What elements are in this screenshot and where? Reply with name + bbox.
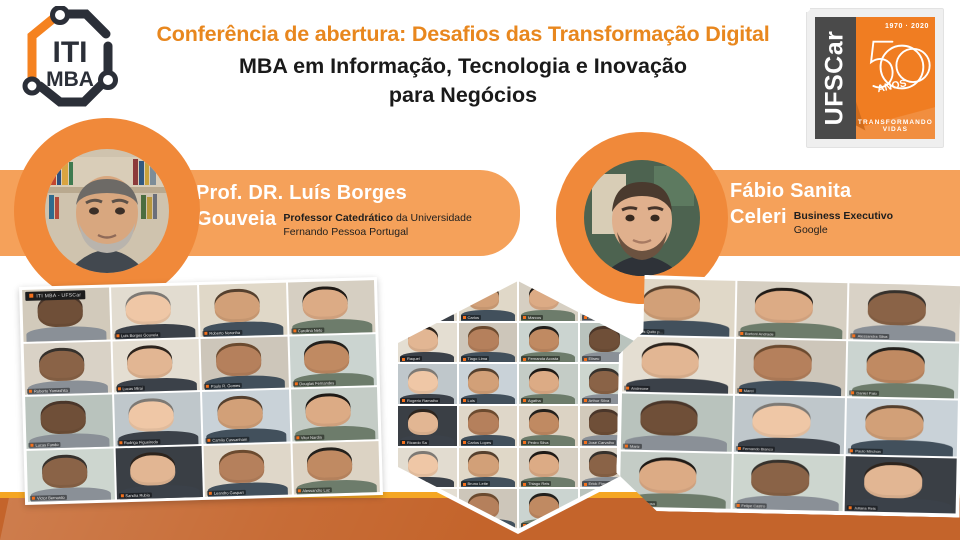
participant-name-label: Luis bbox=[461, 398, 477, 403]
participant-name-label: Marcos Quito p... bbox=[625, 328, 665, 334]
participant-name-label: Rogerio Ramalho bbox=[400, 398, 440, 403]
zoom-participant-tile[interactable]: Paulo Mirchon bbox=[846, 398, 958, 456]
participant-name-label: Alessandro Luz bbox=[295, 487, 332, 493]
program-title-line1: MBA em Informação, Tecnologia e Inovação bbox=[118, 51, 808, 82]
zoom-grid-left[interactable]: ITI MBA - UFSCar Luís Borges GouveiaRobe… bbox=[19, 277, 383, 505]
participant-name-label: Felipe Castro bbox=[734, 503, 767, 509]
speaker-role-left: Professor Catedrático da Universidade Fe… bbox=[283, 212, 472, 239]
zoom-participant-tile[interactable]: Paulo R. Gomes bbox=[201, 336, 289, 390]
participant-body bbox=[27, 326, 107, 342]
participant-head bbox=[641, 345, 699, 378]
stamp-anniversary-panel: 1970 · 2020 ANOS TRANSFORMANDO VIDAS bbox=[856, 17, 935, 139]
zoom-participant-tile[interactable]: Leandro Gaspari bbox=[204, 443, 292, 497]
zoom-participant-tile[interactable]: Douglas Fernandes bbox=[289, 334, 377, 388]
participant-head bbox=[865, 407, 923, 440]
participant-name-label: Victor Bernardo bbox=[30, 495, 67, 501]
zoom-participant-tile[interactable]: Daniel Palo bbox=[847, 341, 959, 399]
participant-name-label: Arthur Silva bbox=[582, 398, 612, 403]
zoom-grid-right[interactable]: Marcos Quito p...Bortoni AndradeAlessand… bbox=[616, 274, 960, 517]
participant-head bbox=[130, 454, 176, 485]
zoom-participant-tile[interactable]: Luis bbox=[459, 364, 518, 404]
presentation-slide: ITI MBA Conferência de abertura: Desafio… bbox=[0, 0, 960, 540]
zoom-participant-tile[interactable]: Vitor Nardin bbox=[290, 387, 378, 441]
participant-head bbox=[40, 403, 86, 434]
zoom-meeting-label: ITI MBA - UFSCar bbox=[25, 290, 85, 301]
stamp-institution-label: UFSCar bbox=[821, 31, 850, 126]
participant-name-label: Vitor Nardin bbox=[294, 434, 324, 440]
zoom-participant-tile[interactable]: Juliana Reis bbox=[845, 456, 957, 514]
participant-head bbox=[39, 350, 85, 381]
participant-name-label: Marcí bbox=[737, 388, 756, 393]
participant-head bbox=[755, 290, 813, 323]
zoom-participant-grid-left: Luís Borges GouveiaRoberto NoronhaCaroli… bbox=[22, 280, 380, 502]
participant-head bbox=[42, 457, 88, 488]
participant-name-label: Leandro Gaspari bbox=[207, 490, 246, 496]
program-title-line2: para Negócios bbox=[118, 82, 808, 110]
speaker-role-left-line2: Fernando Pessoa Portugal bbox=[283, 226, 408, 238]
zoom-participant-tile[interactable]: Luís Borges Gouveia bbox=[111, 285, 199, 339]
participant-name-label: Sandra Rubia bbox=[118, 492, 152, 498]
zoom-participant-tile[interactable]: Larissa Rosa bbox=[398, 281, 457, 321]
iti-mba-logo: ITI MBA bbox=[14, 6, 126, 110]
participant-head bbox=[529, 329, 559, 352]
participant-name-label: Larissa Rosa bbox=[400, 315, 432, 320]
zoom-participant-tile[interactable]: Carlos bbox=[459, 281, 518, 321]
participant-name-label: Carlos bbox=[461, 315, 482, 320]
speaker-name-right-line2: Celeri bbox=[730, 204, 787, 230]
participant-head bbox=[639, 460, 697, 493]
participant-head bbox=[754, 348, 812, 381]
ufscar-stamp-logo: UFSCar 1970 · 2020 ANOS TRANSFORMANDO VI… bbox=[806, 8, 944, 148]
participant-name-label: José Carvalho bbox=[582, 440, 617, 445]
speaker-name-left-line2: Gouveia bbox=[196, 206, 276, 232]
stamp-institution-panel: UFSCar bbox=[815, 17, 856, 139]
speaker-role-right-bold: Business Executivo bbox=[794, 210, 893, 222]
participant-head bbox=[126, 294, 172, 325]
participant-head bbox=[468, 412, 498, 435]
participant-name-label: Pedro Silva bbox=[521, 440, 550, 445]
zoom-participant-tile[interactable]: Alessandra Silva bbox=[849, 283, 960, 341]
participant-head bbox=[408, 412, 438, 435]
participant-name-label: Eliseu bbox=[582, 356, 602, 361]
participant-body bbox=[400, 477, 454, 487]
participant-name-label: Fernando Bianco bbox=[736, 445, 776, 451]
speaker-role-left-bold: Professor Catedrático bbox=[283, 212, 393, 224]
participant-head bbox=[128, 401, 174, 432]
zoom-participant-tile[interactable]: Agatha bbox=[519, 364, 578, 404]
participant-head bbox=[589, 329, 619, 352]
participant-name-label: Raquel bbox=[400, 356, 422, 361]
zoom-participant-tile[interactable]: Victor Bernardo bbox=[27, 448, 115, 502]
participant-name-label: Paulo R. Gomes bbox=[204, 383, 242, 389]
speaker-photo-right bbox=[584, 160, 700, 276]
participant-head bbox=[868, 292, 926, 325]
speaker-role-right: Business Executivo Google bbox=[794, 210, 893, 237]
zoom-participant-tile[interactable]: Sandra Rubia bbox=[115, 446, 203, 500]
stamp-fifty-graphic: ANOS bbox=[856, 25, 935, 109]
speaker-photo-left bbox=[45, 149, 169, 273]
zoom-participant-tile[interactable]: Marcos bbox=[519, 281, 578, 321]
participant-head bbox=[529, 412, 559, 435]
participant-head bbox=[642, 288, 700, 321]
participant-head bbox=[127, 348, 173, 379]
participant-name-label: Andreone bbox=[624, 386, 650, 392]
zoom-participant-tile[interactable]: Rodrigo Figueiredo bbox=[114, 392, 202, 446]
speaker-role-left-rest: da Universidade bbox=[393, 212, 472, 224]
stamp-anos-label: ANOS bbox=[876, 78, 907, 95]
participant-name-label: Paulo Mirchon bbox=[848, 448, 883, 454]
zoom-participant-tile[interactable]: Bortoni Andrade bbox=[736, 281, 848, 339]
participant-head bbox=[304, 343, 350, 374]
participant-head bbox=[753, 405, 811, 438]
participant-name-label: Bortoni Andrade bbox=[738, 330, 776, 336]
zoom-participant-tile[interactable]: Mariz bbox=[621, 393, 733, 451]
participant-head bbox=[468, 287, 498, 310]
participant-body bbox=[400, 310, 454, 320]
participant-name-label: Tiago Lima bbox=[461, 356, 490, 361]
logo-text-iti: ITI bbox=[53, 36, 88, 69]
zoom-participant-tile[interactable]: Carolina Neto bbox=[288, 280, 376, 334]
zoom-participant-tile[interactable]: Raquel bbox=[398, 323, 457, 363]
stamp-tagline: TRANSFORMANDO VIDAS bbox=[856, 119, 935, 133]
participant-head bbox=[529, 454, 559, 477]
participant-head bbox=[214, 292, 260, 323]
participant-name-label: Fernanda Acosta bbox=[521, 356, 560, 361]
participant-head bbox=[529, 287, 559, 310]
zoom-participant-tile[interactable]: Pedro Silva bbox=[519, 406, 578, 446]
participant-head bbox=[589, 412, 619, 435]
zoom-participant-tile[interactable]: Roberto Yamashita bbox=[24, 341, 112, 395]
zoom-participant-tile[interactable]: Carlos Lopes bbox=[459, 406, 518, 446]
zoom-participant-tile[interactable]: Rogerio Ramalho bbox=[398, 364, 457, 404]
participant-head bbox=[408, 329, 438, 352]
participant-name-label: Juliana M. bbox=[400, 481, 427, 486]
participant-head bbox=[218, 452, 264, 483]
participant-name-label: Juliana Reis bbox=[847, 505, 878, 511]
zoom-participant-tile[interactable]: Marcí bbox=[735, 338, 847, 396]
participant-head bbox=[302, 289, 348, 320]
participant-head bbox=[468, 371, 498, 394]
participant-name-label: Carlos Lopes bbox=[461, 440, 494, 445]
speaker-name-right-line1: Fábio Sanita bbox=[730, 178, 955, 204]
participant-head bbox=[408, 287, 438, 310]
participant-head bbox=[751, 463, 809, 496]
participant-name-label: Bruno Leite bbox=[461, 481, 490, 486]
participant-head bbox=[408, 454, 438, 477]
participant-head bbox=[408, 371, 438, 394]
participant-head bbox=[307, 450, 353, 481]
participant-head bbox=[217, 399, 263, 430]
zoom-participant-tile[interactable]: Thiago Reis bbox=[519, 448, 578, 488]
zoom-participant-tile[interactable]: Alessandro Luz bbox=[292, 441, 380, 495]
participant-head bbox=[529, 371, 559, 394]
participant-name-label: Lucas Mirai bbox=[115, 386, 145, 392]
zoom-participant-tile[interactable]: Fernanda Acosta bbox=[519, 323, 578, 363]
participant-name-label: Thiago Reis bbox=[521, 481, 551, 486]
participant-head bbox=[640, 403, 698, 436]
zoom-participant-tile[interactable]: Tiago Lima bbox=[459, 323, 518, 363]
zoom-participant-tile[interactable]: Felipe Castro bbox=[732, 453, 844, 511]
speaker-info-left: Prof. DR. Luís Borges Gouveia Professor … bbox=[196, 180, 526, 240]
zoom-participant-tile[interactable]: Roberto Noronha bbox=[199, 283, 287, 337]
speaker-avatar-left bbox=[14, 118, 200, 304]
speaker-name-left-line1: Prof. DR. Luís Borges bbox=[196, 180, 526, 206]
participant-head bbox=[305, 396, 351, 427]
participant-head bbox=[589, 454, 619, 477]
participant-head bbox=[215, 345, 261, 376]
participant-name-label: Erick Figueiredo bbox=[582, 481, 620, 486]
zoom-participant-tile[interactable]: Camila Cassanham bbox=[202, 390, 290, 444]
participant-head bbox=[37, 297, 83, 328]
zoom-participant-tile[interactable]: Bruno Leite bbox=[459, 448, 518, 488]
participant-name-label: Lucas Fundo bbox=[28, 441, 60, 447]
participant-name-label: Alessandra Silva bbox=[851, 333, 890, 339]
participant-body bbox=[628, 320, 730, 337]
participant-name-label: Marcos bbox=[521, 315, 543, 320]
conference-title: Conferência de abertura: Desafios das Tr… bbox=[118, 22, 808, 47]
participant-name-label: Mariz bbox=[623, 443, 642, 448]
zoom-participant-tile[interactable]: Lucas Mirai bbox=[112, 339, 200, 393]
zoom-participant-tile[interactable]: Ricardo Sa bbox=[398, 406, 457, 446]
zoom-participant-tile[interactable]: Fernando Bianco bbox=[733, 396, 845, 454]
speaker-info-right: Fábio Sanita Celeri Business Executivo G… bbox=[730, 178, 955, 238]
participant-head bbox=[866, 350, 924, 383]
logo-text-mba: MBA bbox=[46, 68, 94, 91]
participant-head bbox=[468, 329, 498, 352]
zoom-participant-tile[interactable]: Lucas Fundo bbox=[25, 394, 113, 448]
zoom-participant-tile[interactable]: Juliana M. bbox=[398, 448, 457, 488]
participant-name-label: Daniel Palo bbox=[849, 390, 879, 396]
participant-name-label: Ana Paula bbox=[582, 315, 609, 320]
participant-head bbox=[864, 465, 922, 498]
participant-name-label: Agatha bbox=[521, 398, 543, 403]
zoom-participant-tile[interactable]: Andreone bbox=[622, 336, 734, 394]
participant-name-label: Ricardo Sa bbox=[400, 440, 429, 445]
participant-name-label: Carolina Neto bbox=[291, 327, 325, 333]
zoom-participant-grid-right: Marcos Quito p...Bortoni AndradeAlessand… bbox=[620, 279, 960, 514]
participant-head bbox=[468, 454, 498, 477]
title-block: Conferência de abertura: Desafios das Tr… bbox=[118, 22, 808, 110]
speaker-role-right-line2: Google bbox=[794, 224, 828, 236]
participant-head bbox=[589, 371, 619, 394]
